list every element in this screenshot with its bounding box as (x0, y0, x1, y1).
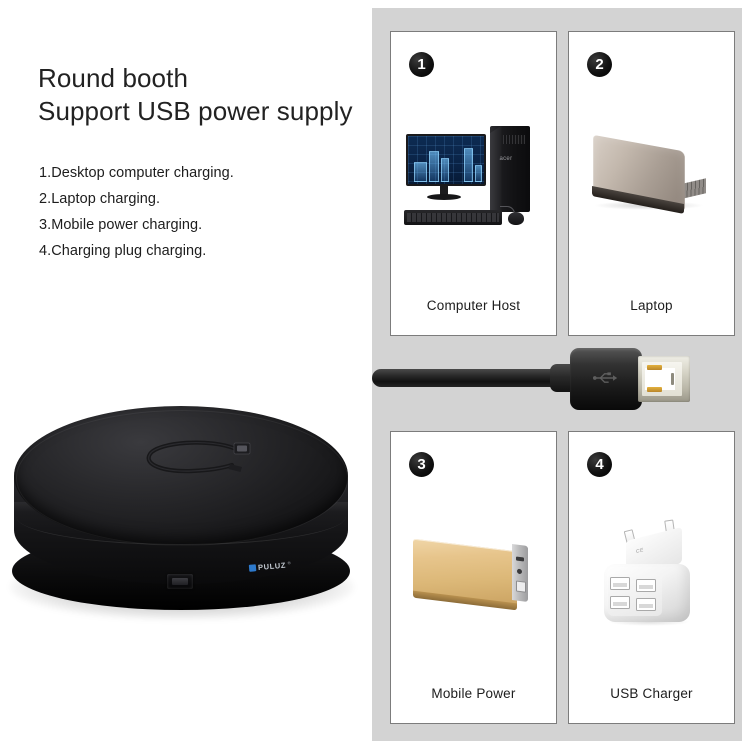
step-badge: 2 (587, 52, 612, 77)
power-bank-icon (391, 482, 556, 665)
usb-connector-shell (570, 348, 642, 410)
monitor-screen (408, 136, 484, 184)
computer-tower: acer (490, 126, 530, 212)
usb-a-connector-photo (372, 340, 742, 418)
card-usb-charger: 4 CE USB Charger (568, 431, 735, 724)
mouse (508, 212, 524, 225)
list-item: 2.Laptop charging. (39, 186, 369, 212)
headline-line-1: Round booth (38, 62, 368, 95)
list-item: 1.Desktop computer charging. (39, 160, 369, 186)
product-infographic: Round booth Support USB power supply 1.D… (0, 0, 750, 750)
brand-trademark: ® (288, 560, 291, 565)
usb-port (610, 577, 630, 590)
certification-marks: CE (636, 547, 644, 555)
step-badge: 1 (409, 52, 434, 77)
keyboard (404, 210, 502, 225)
feature-list: 1.Desktop computer charging. 2.Laptop ch… (39, 160, 369, 264)
card-computer-host: 1 (390, 31, 557, 336)
page-title: Round booth Support USB power supply (38, 62, 368, 128)
card-caption: Mobile Power (391, 686, 556, 701)
card-caption: Computer Host (391, 298, 556, 313)
step-badge: 4 (587, 452, 612, 477)
card-caption: USB Charger (569, 686, 734, 701)
tower-brand-label: acer (500, 156, 513, 162)
usb-trident-icon (592, 371, 620, 385)
power-switch[interactable] (167, 574, 193, 589)
turntable-seam (16, 488, 346, 545)
brand-mark-icon (249, 564, 257, 572)
turntable-product-photo (4, 404, 360, 654)
usb-charger-icon: CE (569, 482, 734, 665)
desktop-computer-icon: acer (391, 82, 556, 277)
usb-port (610, 596, 630, 609)
step-badge: 3 (409, 452, 434, 477)
list-item: 3.Mobile power charging. (39, 212, 369, 238)
usb-cable (372, 369, 572, 387)
list-item: 4.Charging plug charging. (39, 238, 369, 264)
usb-cable-coil (140, 436, 258, 484)
monitor-stand-base (427, 194, 461, 200)
card-mobile-power: 3 Mobile Power (390, 431, 557, 724)
usb-port (636, 598, 656, 611)
card-laptop: 2 Laptop (568, 31, 735, 336)
usb-contact (647, 365, 662, 370)
usb-port (636, 579, 656, 592)
card-caption: Laptop (569, 298, 734, 313)
laptop-icon (569, 82, 734, 277)
power-bank-port-side (512, 544, 528, 602)
usb-contact (647, 387, 662, 392)
monitor (406, 134, 486, 186)
headline-line-2: Support USB power supply (38, 95, 368, 128)
usb-metal-housing (638, 356, 690, 402)
